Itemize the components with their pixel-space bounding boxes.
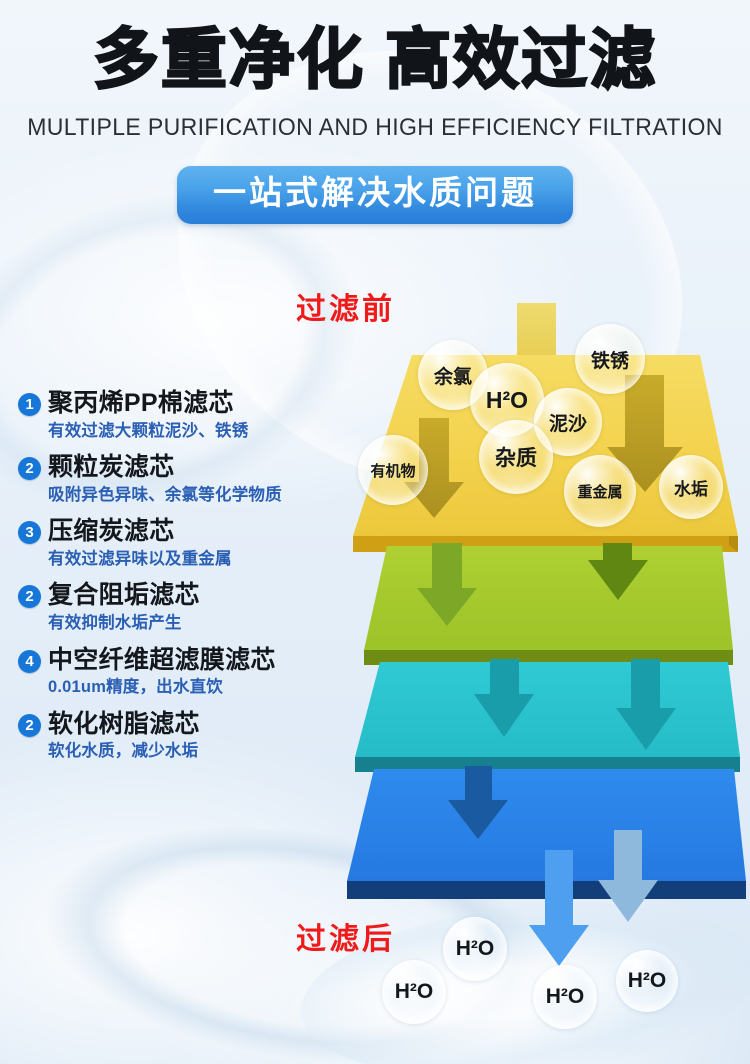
page-subtitle: MULTIPLE PURIFICATION AND HIGH EFFICIENC… — [23, 116, 728, 141]
list-item: 1 聚丙烯PP棉滤芯 有效过滤大颗粒泥沙、铁锈 — [18, 388, 368, 441]
ultrafiltration-layer — [347, 769, 746, 899]
filter-title: 中空纤维超滤膜滤芯 — [48, 645, 276, 676]
filter-title: 压缩炭滤芯 — [48, 516, 175, 547]
stage-label-after: 过滤后 — [296, 914, 395, 958]
bubble-rust: 铁锈 — [575, 324, 645, 394]
stage-label-before: 过滤前 — [296, 284, 395, 328]
granular-carbon-layer — [364, 546, 733, 665]
filter-list: 1 聚丙烯PP棉滤芯 有效过滤大颗粒泥沙、铁锈 2 颗粒炭滤芯 吸附异色异味、余… — [18, 388, 368, 773]
bubble-impurities: 杂质 — [479, 420, 553, 494]
bubble-heavy-metals: 重金属 — [564, 455, 636, 527]
compressed-carbon-layer — [355, 662, 740, 772]
filter-title: 颗粒炭滤芯 — [48, 452, 175, 483]
filter-title: 软化树脂滤芯 — [48, 709, 200, 740]
blue-layer-arrow-left — [448, 766, 508, 839]
green-layer-arrow-right — [588, 543, 648, 600]
filter-badge: 3 — [18, 521, 41, 544]
list-item: 2 颗粒炭滤芯 吸附异色异味、余氯等化学物质 — [18, 452, 368, 505]
filter-badge: 2 — [18, 457, 41, 480]
filter-desc: 有效过滤异味以及重金属 — [48, 549, 368, 570]
bubble-limescale: 水垢 — [659, 455, 723, 519]
bubble-h2o-clean: H²O — [443, 917, 507, 981]
cyan-layer-arrow-right — [616, 659, 676, 750]
list-item: 2 复合阻垢滤芯 有效抑制水垢产生 — [18, 580, 368, 633]
tagline-pill: 一站式解决水质问题 — [177, 166, 573, 224]
list-item: 3 压缩炭滤芯 有效过滤异味以及重金属 — [18, 516, 368, 569]
bubble-h2o-clean: H²O — [616, 950, 678, 1012]
bubble-h2o-clean: H²O — [533, 965, 597, 1029]
filter-badge: 2 — [18, 714, 41, 737]
filter-desc: 有效抑制水垢产生 — [48, 613, 368, 634]
green-layer-arrow-left — [417, 543, 477, 626]
filter-desc: 有效过滤大颗粒泥沙、铁锈 — [48, 421, 368, 442]
outlet-arrow-right-icon — [598, 830, 658, 922]
water-texture-bottom-right — [292, 881, 750, 1064]
cyan-layer-arrow-left — [474, 659, 534, 737]
filter-title: 复合阻垢滤芯 — [48, 580, 200, 611]
bubble-organic-matter: 有机物 — [358, 435, 428, 505]
outlet-arrow-left-icon — [529, 850, 589, 966]
page-title: 多重净化 高效过滤 — [0, 26, 750, 92]
filter-badge: 4 — [18, 650, 41, 673]
filter-badge: 1 — [18, 393, 41, 416]
bubble-h2o-clean: H²O — [382, 960, 446, 1024]
filter-desc: 软化水质，减少水垢 — [48, 741, 368, 762]
filter-badge: 2 — [18, 585, 41, 608]
list-item: 4 中空纤维超滤膜滤芯 0.01um精度，出水直饮 — [18, 645, 368, 698]
tagline-banner: 一站式解决水质问题 — [0, 166, 750, 224]
filter-desc: 吸附异色异味、余氯等化学物质 — [48, 485, 368, 506]
filter-title: 聚丙烯PP棉滤芯 — [48, 388, 234, 419]
filter-desc: 0.01um精度，出水直饮 — [48, 677, 368, 698]
list-item: 2 软化树脂滤芯 软化水质，减少水垢 — [18, 709, 368, 762]
infographic-page: 多重净化 高效过滤 MULTIPLE PURIFICATION AND HIGH… — [0, 0, 750, 1064]
